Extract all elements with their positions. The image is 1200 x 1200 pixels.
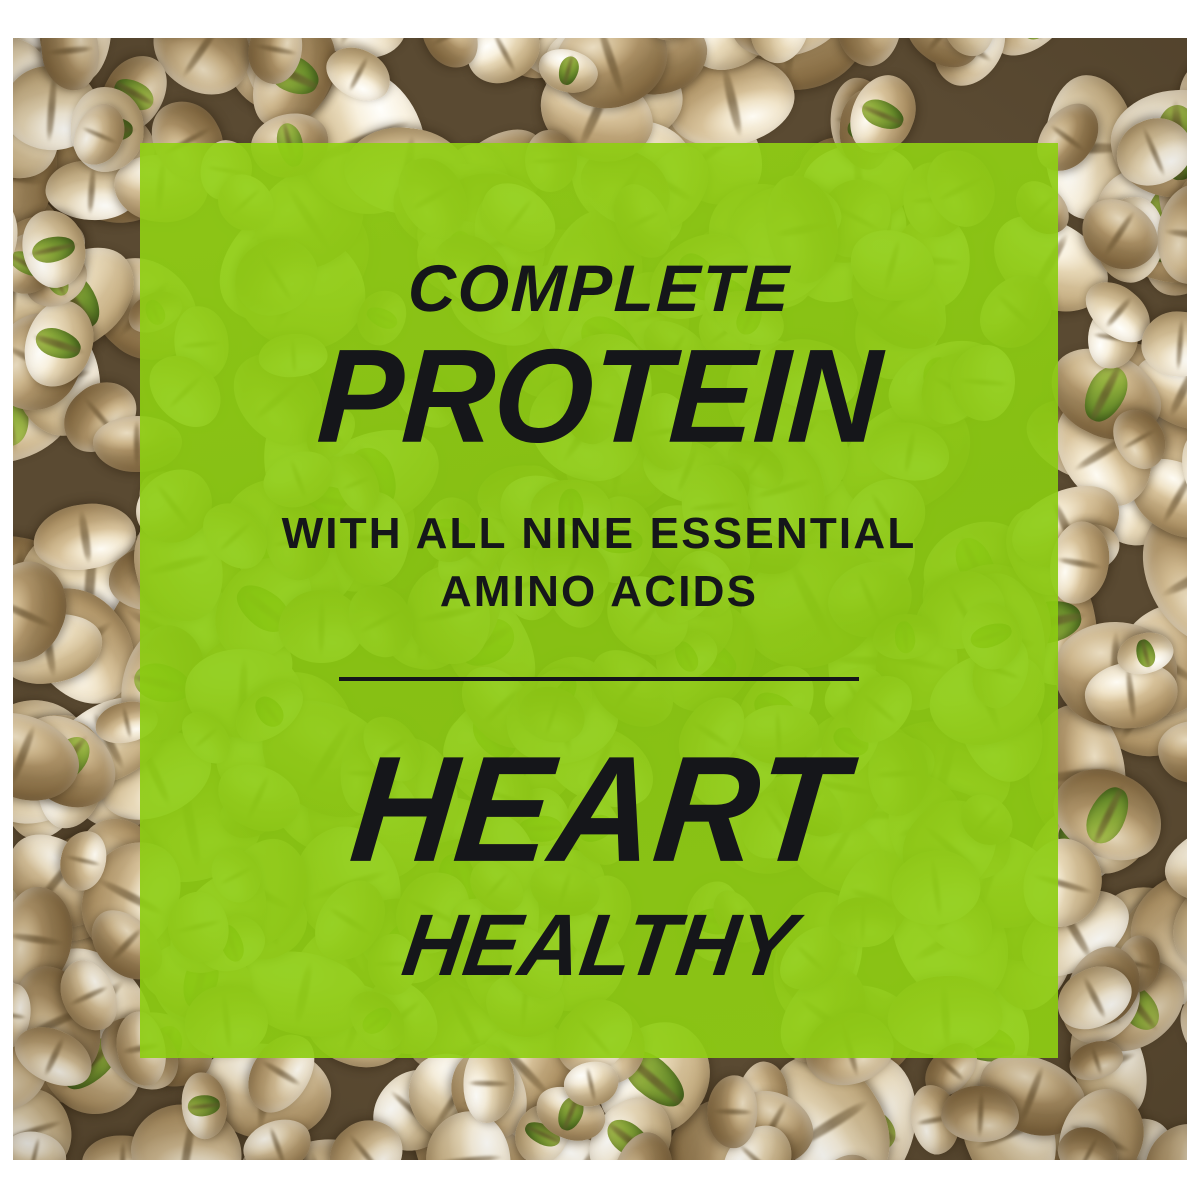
headline-complete: COMPLETE	[407, 255, 792, 321]
claim-heart: HEART	[345, 735, 852, 886]
claim-healthy: HEALTHY	[398, 901, 801, 988]
green-brand-panel: COMPLETE PROTEIN WITH ALL NINE ESSENTIAL…	[140, 143, 1058, 1058]
horizontal-divider	[339, 677, 859, 681]
headline-protein: PROTEIN	[315, 330, 884, 463]
subtitle-block: WITH ALL NINE ESSENTIAL AMINO ACIDS	[282, 505, 917, 621]
panel-content: COMPLETE PROTEIN WITH ALL NINE ESSENTIAL…	[140, 143, 1058, 1058]
pistachio-protein-poster: COMPLETE PROTEIN WITH ALL NINE ESSENTIAL…	[0, 0, 1200, 1200]
subtitle-line-2: AMINO ACIDS	[282, 563, 917, 621]
subtitle-line-1: WITH ALL NINE ESSENTIAL	[282, 505, 917, 563]
